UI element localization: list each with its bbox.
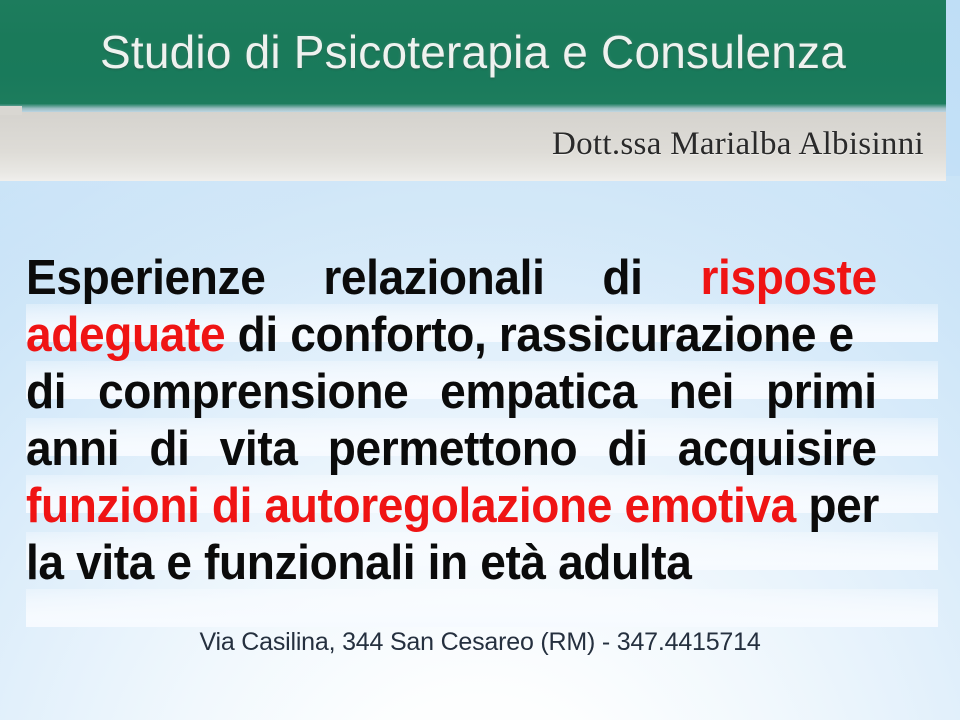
word: di conforto, rassicurazione e xyxy=(225,308,854,362)
quote-line-4-text: anni di vita permettono di acquisire xyxy=(26,423,877,475)
word: permettono xyxy=(328,423,578,475)
word-accent: adeguate xyxy=(26,308,225,362)
quote-line-3-text: di comprensione empatica nei primi xyxy=(26,366,877,418)
word: acquisire xyxy=(678,423,877,475)
word: per xyxy=(796,479,879,533)
quote-line-2-text: adeguate di conforto, rassicurazione e xyxy=(26,309,883,361)
quote-paragraph: Esperienze relazionali di risposte Esper… xyxy=(26,252,938,594)
quote-line-1-text: Esperienze relazionali di risposte xyxy=(26,252,877,304)
word: di xyxy=(149,423,189,475)
word: comprensione xyxy=(98,366,408,418)
word: Esperienze xyxy=(26,252,265,304)
quote-line: Esperienze relazionali di risposte Esper… xyxy=(26,252,938,309)
header-sign-photo: Studio di Psicoterapia e Consulenza Dott… xyxy=(0,0,946,181)
quote-line: anni di vita permettono di acquisire ann… xyxy=(26,423,938,480)
word-accent: risposte xyxy=(701,252,877,304)
word-accent: funzioni di autoregolazione emotiva xyxy=(26,479,796,533)
word: nei xyxy=(669,366,734,418)
doctor-name: Dott.ssa Marialba Albisinni xyxy=(552,126,924,163)
word: relazionali xyxy=(323,252,544,304)
header-left-notch xyxy=(0,106,22,115)
quote-line: di comprensione empatica nei primi di co… xyxy=(26,366,938,423)
word: di xyxy=(602,252,642,304)
word: primi xyxy=(766,366,877,418)
word: vita xyxy=(220,423,298,475)
quote-line-6-text: la vita e funzionali in età adulta xyxy=(26,537,883,589)
quote-line: funzioni di autoregolazione emotiva per … xyxy=(26,480,938,537)
quote-line: la vita e funzionali in età adulta la vi… xyxy=(26,537,938,594)
address-line: Via Casilina, 344 San Cesareo (RM) - 347… xyxy=(0,628,960,657)
quote-line-5-text: funzioni di autoregolazione emotiva per xyxy=(26,480,883,532)
word: di xyxy=(607,423,647,475)
word: empatica xyxy=(440,366,637,418)
practice-title: Studio di Psicoterapia e Consulenza xyxy=(0,0,946,104)
slide-canvas: Studio di Psicoterapia e Consulenza Dott… xyxy=(0,0,960,720)
word: anni xyxy=(26,423,119,475)
quote-line: adeguate di conforto, rassicurazione e a… xyxy=(26,309,938,366)
word: di xyxy=(26,366,66,418)
